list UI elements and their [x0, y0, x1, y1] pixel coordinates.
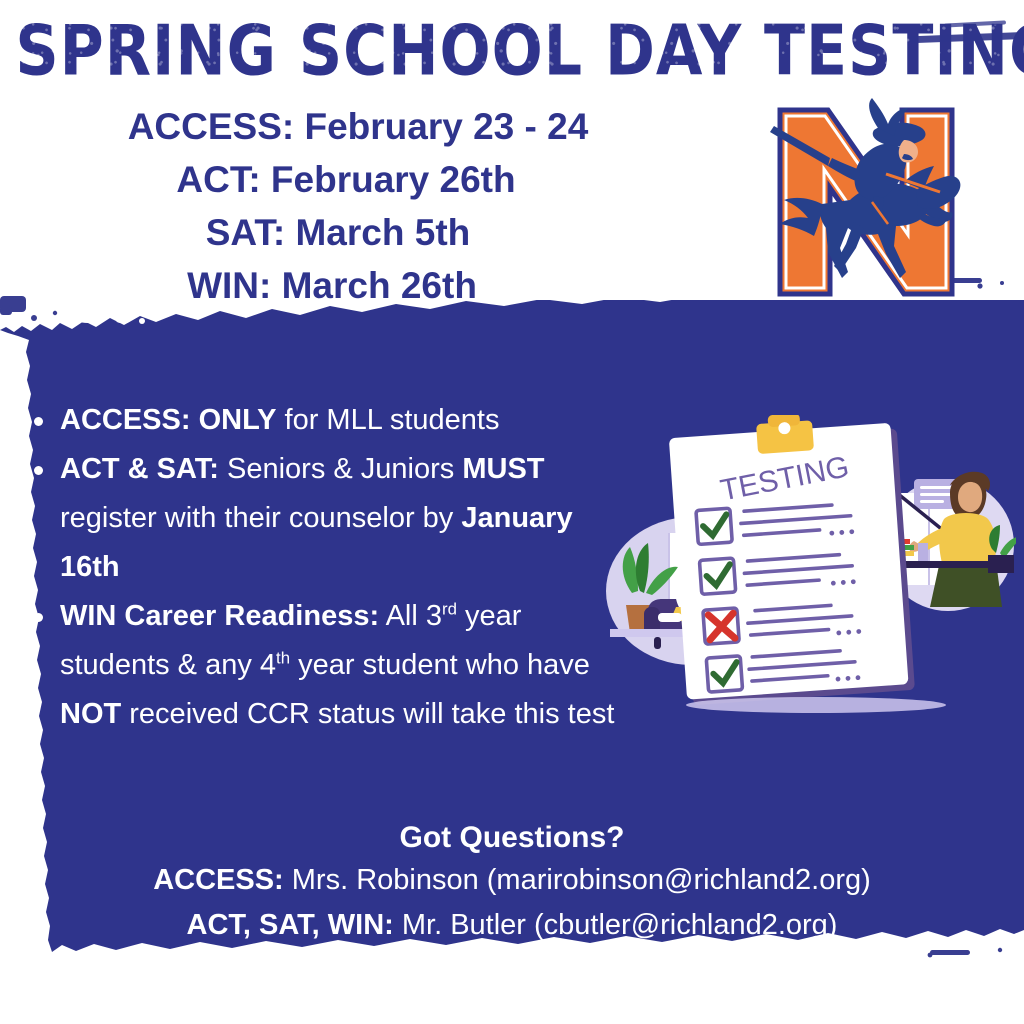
clipboard: TESTING: [668, 415, 915, 706]
contact-actsatwin-value: Mr. Butler (cbutler@richland2.org): [394, 909, 838, 941]
testing-illustration: TESTING: [596, 415, 1016, 715]
school-logo: [754, 96, 980, 312]
bullet-win-label: WIN Career Readiness:: [60, 600, 379, 632]
test-date-list: ACCESS: February 23 - 24 ACT: February 2…: [0, 100, 728, 312]
bullet-win-ordinal-th: th: [276, 648, 290, 667]
bullet-win-text3: year student who have: [290, 649, 590, 681]
bullet-actsat-text1: Seniors & Juniors: [219, 453, 462, 485]
date-line-sat: SAT: March 5th: [0, 206, 702, 259]
bullet-actsat-text2: register with their counselor by: [60, 502, 461, 534]
page-title: SPRING SCHOOL DAY TESTING: [15, 14, 1008, 88]
bullet-win-ordinal-rd: rd: [442, 599, 457, 618]
date-line-win: WIN: March 26th: [0, 259, 696, 312]
bullet-item-access: ACCESS: ONLY for MLL students: [60, 396, 626, 445]
bullet-list-section: ACCESS: ONLY for MLL students ACT & SAT:…: [26, 396, 626, 739]
bullet-access-bold: ACCESS: ONLY: [60, 404, 276, 436]
bullet-item-act-sat: ACT & SAT: Seniors & Juniors MUST regist…: [60, 445, 626, 592]
got-questions-heading: Got Questions?: [0, 818, 1024, 858]
date-line-access: ACCESS: February 23 - 24: [0, 100, 722, 153]
date-line-act: ACT: February 26th: [0, 153, 710, 206]
bullet-win-text4: received CCR status will take this test: [121, 698, 614, 730]
contact-access-value: Mrs. Robinson (marirobinson@richland2.or…: [284, 864, 871, 896]
bullet-win-not: NOT: [60, 698, 121, 730]
contact-actsatwin-label: ACT, SAT, WIN:: [187, 909, 394, 941]
bullet-access-text: for MLL students: [276, 404, 499, 436]
poster-canvas: SPRING SCHOOL DAY TESTING ACCESS: Februa…: [0, 0, 1024, 1024]
bullet-item-win: WIN Career Readiness: All 3rd year stude…: [60, 592, 626, 739]
contact-line-access: ACCESS: Mrs. Robinson (marirobinson@rich…: [0, 858, 1024, 903]
bullet-win-text1: All 3: [379, 600, 442, 632]
contact-line-act-sat-win: ACT, SAT, WIN: Mr. Butler (cbutler@richl…: [0, 903, 1024, 948]
bullet-actsat-label: ACT & SAT:: [60, 453, 219, 485]
contact-access-label: ACCESS:: [153, 864, 284, 896]
bullet-list: ACCESS: ONLY for MLL students ACT & SAT:…: [26, 396, 626, 739]
title-wrapper: SPRING SCHOOL DAY TESTING: [0, 0, 1024, 100]
bullet-actsat-must: MUST: [462, 453, 544, 485]
contact-section: Got Questions? ACCESS: Mrs. Robinson (ma…: [0, 818, 1024, 948]
